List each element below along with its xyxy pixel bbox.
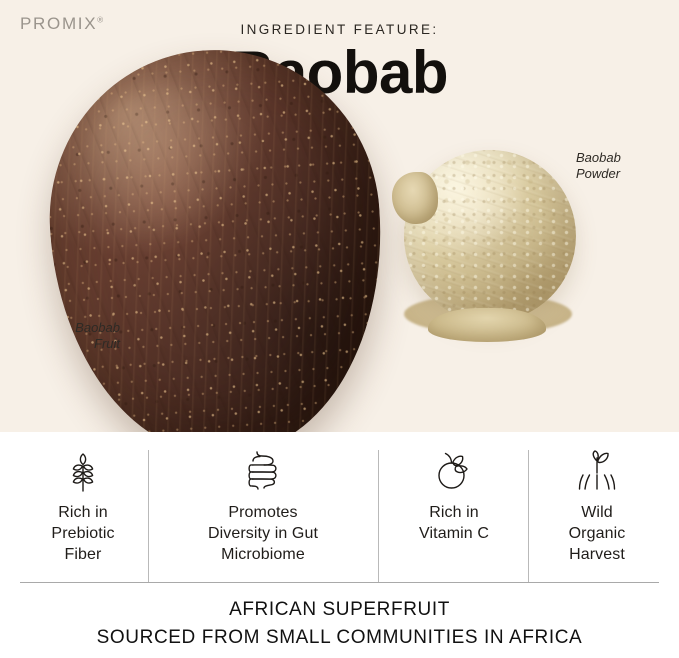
wheat-stalk-icon bbox=[66, 446, 100, 494]
powder-caption-line-2: Powder bbox=[576, 166, 620, 181]
benefit-line-1: Rich in bbox=[429, 504, 479, 521]
ingredient-feature-poster: PROMIX® INGREDIENT FEATURE: Baobab Baoba… bbox=[0, 0, 679, 658]
fruit-fiber-texture bbox=[38, 39, 395, 432]
benefit-line-3: Microbiome bbox=[221, 546, 305, 563]
benefits-section: Rich in Prebiotic Fiber bbox=[0, 432, 679, 584]
benefit-line-1: Rich in bbox=[58, 504, 108, 521]
benefit-item-prebiotic-fiber: Rich in Prebiotic Fiber bbox=[18, 446, 148, 582]
benefit-line-3: Fiber bbox=[65, 546, 102, 563]
benefit-label: Promotes Diversity in Gut Microbiome bbox=[208, 502, 318, 565]
benefit-label: Rich in Vitamin C bbox=[419, 502, 489, 544]
footer-line-1: AFRICAN SUPERFRUIT bbox=[0, 596, 679, 624]
benefit-divider-3 bbox=[528, 450, 529, 583]
eyebrow-label: INGREDIENT FEATURE: bbox=[0, 22, 679, 37]
hero-section: PROMIX® INGREDIENT FEATURE: Baobab Baoba… bbox=[0, 0, 679, 432]
benefit-divider-1 bbox=[148, 450, 149, 583]
fruit-caption-line-1: Baobab bbox=[75, 320, 120, 335]
powder-caption-line-1: Baobab bbox=[576, 150, 621, 165]
baobab-fruit-image bbox=[38, 39, 395, 432]
footer-divider bbox=[20, 582, 659, 583]
sprout-field-icon bbox=[576, 446, 618, 494]
orange-fruit-icon bbox=[434, 446, 474, 494]
benefit-item-wild-organic-harvest: Wild Organic Harvest bbox=[532, 446, 662, 582]
benefit-item-gut-microbiome: Promotes Diversity in Gut Microbiome bbox=[152, 446, 374, 582]
baobab-powder-image bbox=[396, 148, 584, 338]
benefit-line-1: Promotes bbox=[228, 504, 297, 521]
benefit-divider-2 bbox=[378, 450, 379, 583]
powder-lip bbox=[428, 308, 546, 342]
benefit-label: Wild Organic Harvest bbox=[569, 502, 626, 565]
benefit-line-2: Prebiotic bbox=[51, 525, 114, 542]
intestine-icon bbox=[242, 446, 284, 494]
baobab-powder-caption: Baobab Powder bbox=[576, 150, 676, 182]
benefit-line-2: Diversity in Gut bbox=[208, 525, 318, 542]
benefit-line-2: Vitamin C bbox=[419, 525, 489, 542]
baobab-fruit-caption: Baobab Fruit bbox=[30, 320, 120, 352]
benefit-item-vitamin-c: Rich in Vitamin C bbox=[382, 446, 526, 582]
benefit-line-3: Harvest bbox=[569, 546, 625, 563]
powder-tuft bbox=[392, 172, 438, 224]
footer-section: AFRICAN SUPERFRUIT SOURCED FROM SMALL CO… bbox=[0, 596, 679, 652]
fruit-caption-line-2: Fruit bbox=[94, 336, 120, 351]
benefit-line-2: Organic bbox=[569, 525, 626, 542]
benefit-label: Rich in Prebiotic Fiber bbox=[51, 502, 114, 565]
benefit-line-1: Wild bbox=[581, 504, 613, 521]
footer-line-2: SOURCED FROM SMALL COMMUNITIES IN AFRICA bbox=[0, 624, 679, 652]
